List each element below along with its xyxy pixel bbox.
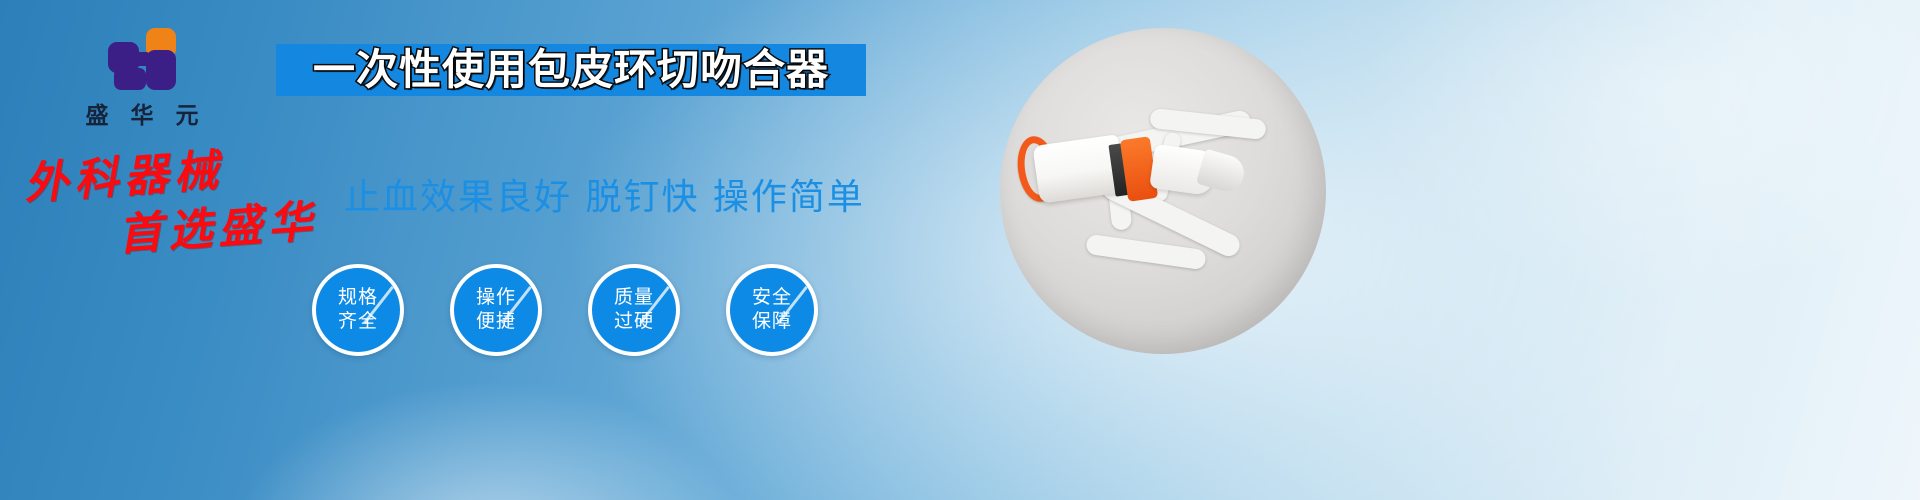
feature-badge-safety[interactable]: 安全 保障 (726, 264, 818, 356)
badge-label-line1: 质量 (614, 286, 654, 310)
badge-label-line2: 便捷 (476, 310, 516, 334)
slogan-line-2: 首选盛华 (117, 200, 320, 258)
product-image (1000, 28, 1326, 354)
background-glow-bottom-left (230, 380, 750, 500)
company-logo-icon (108, 28, 176, 90)
badge-label-line1: 安全 (752, 286, 792, 310)
company-name: 盛 华 元 (62, 96, 222, 130)
page-title: 一次性使用包皮环切吻合器 (313, 49, 829, 91)
badge-label-line2: 保障 (752, 310, 792, 334)
logo-block-purple-right (146, 50, 176, 90)
feature-badge-operation[interactable]: 操作 便捷 (450, 264, 542, 356)
badge-label-line1: 操作 (476, 286, 516, 310)
slogan-line-1: 外科器械 (23, 149, 226, 207)
device-arm-lower-outer (1085, 234, 1207, 271)
feature-badge-quality[interactable]: 质量 过硬 (588, 264, 680, 356)
subtitle-text: 止血效果良好 脱钉快 操作简单 (344, 168, 865, 220)
logo-block-purple-bottom (114, 68, 146, 90)
feature-badge-specs[interactable]: 规格 齐全 (312, 264, 404, 356)
logo-block-connector (134, 52, 150, 66)
brand-logo[interactable]: 盛 华 元 (62, 28, 222, 130)
badge-label-line2: 过硬 (614, 310, 654, 334)
badge-label-line1: 规格 (338, 286, 378, 310)
product-title-band: 一次性使用包皮环切吻合器 (276, 44, 866, 96)
background-glow-top-right (1360, 0, 1920, 300)
feature-badge-group: 规格 齐全 操作 便捷 质量 过硬 安全 保障 (312, 264, 818, 356)
promo-banner: 盛 华 元 一次性使用包皮环切吻合器 外科器械 首选盛华 止血效果良好 脱钉快 … (0, 0, 1920, 500)
badge-label-line2: 齐全 (338, 310, 378, 334)
